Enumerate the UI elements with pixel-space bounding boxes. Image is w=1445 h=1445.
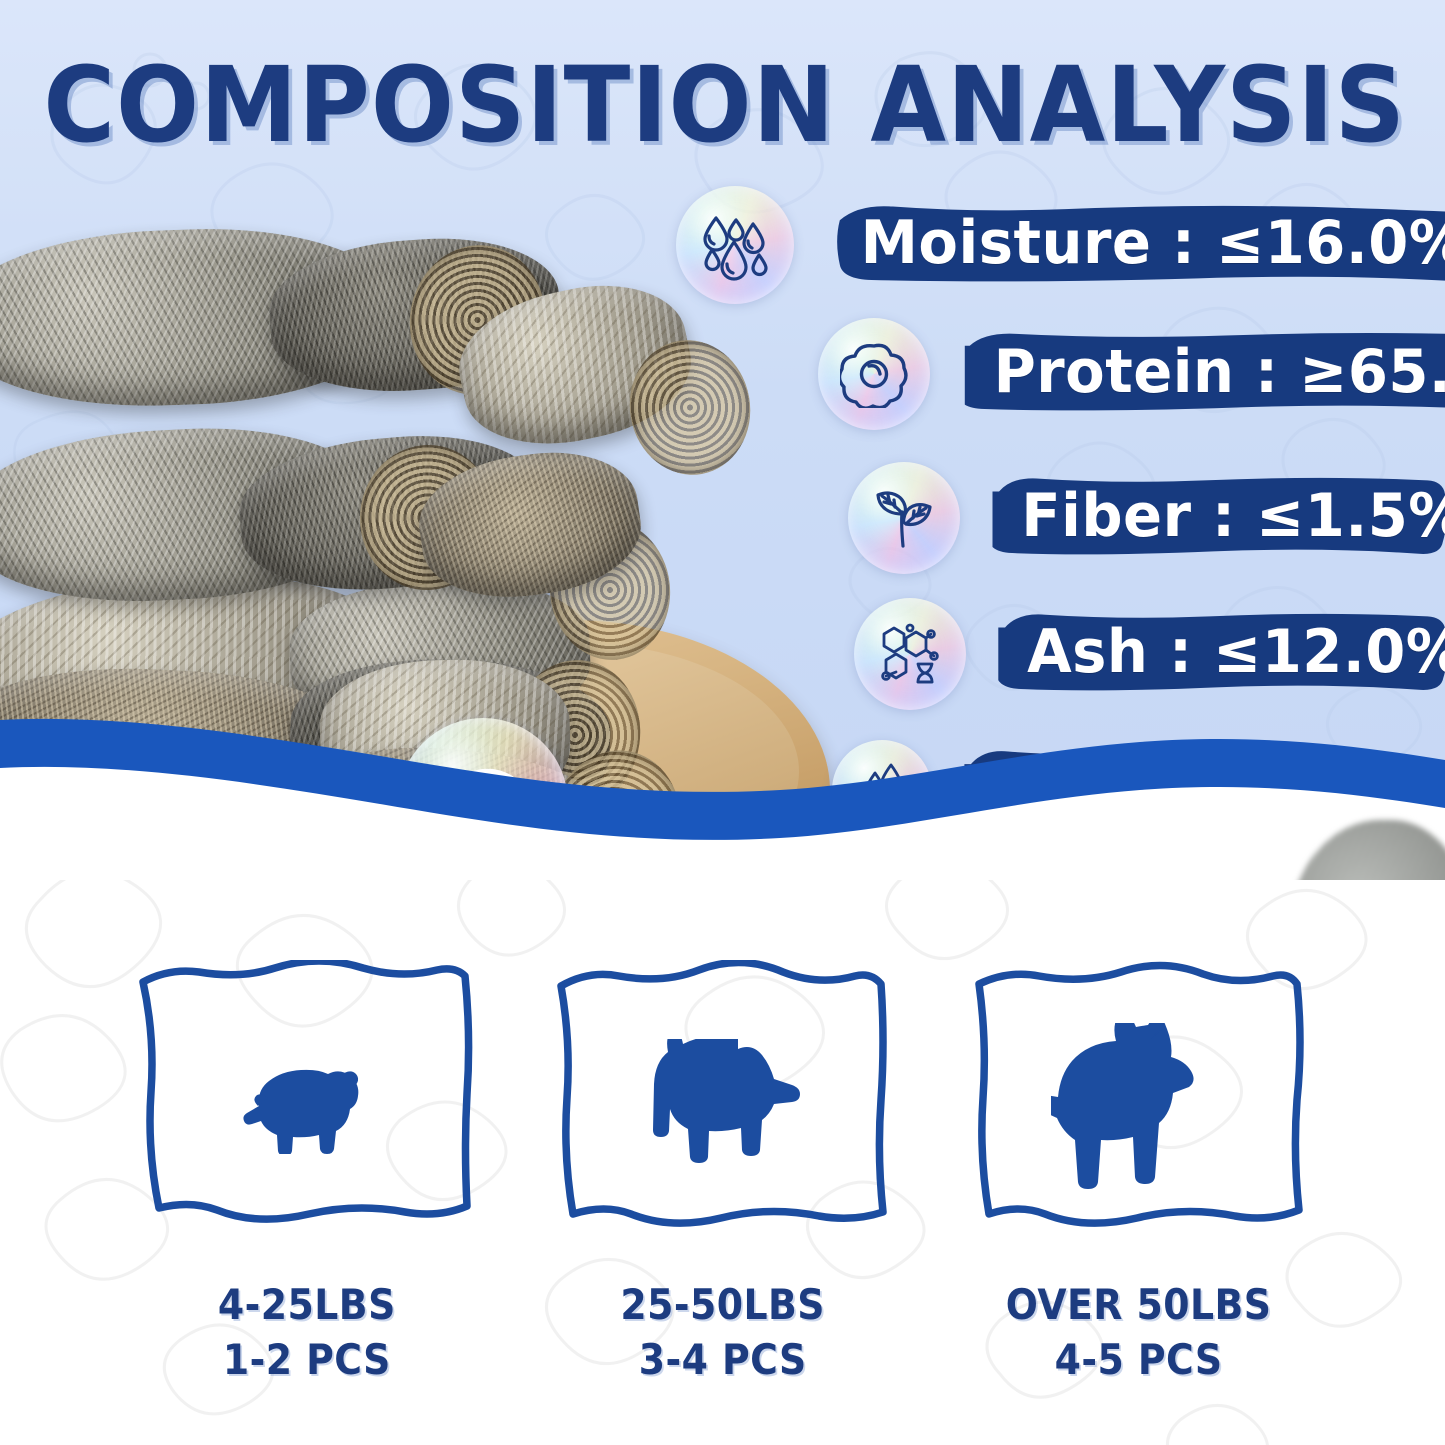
protein-label-bar: Protein : ≥65.0% — [965, 327, 1445, 421]
fiber-label-bar: Fiber : ≤1.5% — [992, 471, 1445, 565]
size-pieces-large: 4-5 PCS — [1006, 1333, 1272, 1388]
fiber-value-text: Fiber : ≤1.5% — [1021, 481, 1445, 551]
size-text-large: OVER 50LBS 4-5 PCS — [1006, 1278, 1272, 1387]
nutrition-row-moisture: Moisture : ≤16.0% — [676, 186, 1445, 304]
top-panel: COMPOSITION ANALYSIS — [0, 0, 1445, 880]
size-box-small — [133, 960, 481, 1252]
protein-bubble — [818, 318, 930, 430]
ash-value-text: Ash : ≤12.0% — [1027, 617, 1445, 687]
ash-label-bar: Ash : ≤12.0% — [998, 607, 1445, 701]
composition-analysis-poster: COMPOSITION ANALYSIS — [0, 0, 1445, 1445]
nutrition-row-fiber: Fiber : ≤1.5% — [848, 462, 1445, 574]
size-box-large — [965, 960, 1313, 1252]
moisture-value-text: Moisture : ≤16.0% — [861, 208, 1445, 278]
size-weight-small: 4-25LBS — [218, 1278, 396, 1333]
wave-divider — [0, 694, 1445, 880]
molecule-icon — [876, 620, 944, 688]
medium-dog-icon — [642, 1039, 804, 1173]
size-pieces-medium: 3-4 PCS — [620, 1333, 825, 1388]
nutrition-row-protein: Protein : ≥65.0% — [818, 318, 1445, 430]
fried-egg-icon — [840, 340, 908, 408]
fiber-bubble — [848, 462, 960, 574]
size-card-medium[interactable]: 25-50LBS 3-4 PCS — [548, 960, 898, 1430]
size-box-medium — [549, 960, 897, 1252]
large-dog-icon — [1051, 1023, 1227, 1189]
grey-cat-photo — [1281, 800, 1445, 880]
size-weight-large: OVER 50LBS — [1006, 1278, 1272, 1333]
moisture-label-bar: Moisture : ≤16.0% — [832, 198, 1445, 292]
feeding-size-cards: 4-25LBS 1-2 PCS 25-50LBS 3-4 PCS — [0, 960, 1445, 1430]
leaf-plant-icon — [870, 484, 938, 552]
small-dog-icon — [242, 1058, 372, 1154]
protein-value-text: Protein : ≥65.0% — [994, 337, 1445, 407]
size-pieces-small: 1-2 PCS — [218, 1333, 396, 1388]
moisture-bubble — [676, 186, 794, 304]
water-drops-icon — [698, 208, 772, 282]
size-text-medium: 25-50LBS 3-4 PCS — [620, 1278, 825, 1387]
size-card-small[interactable]: 4-25LBS 1-2 PCS — [132, 960, 482, 1430]
feeding-guide-panel: 4-25LBS 1-2 PCS 25-50LBS 3-4 PCS — [0, 880, 1445, 1445]
size-text-small: 4-25LBS 1-2 PCS — [218, 1278, 396, 1387]
size-weight-medium: 25-50LBS — [620, 1278, 825, 1333]
page-title: COMPOSITION ANALYSIS — [43, 44, 1401, 166]
size-card-large[interactable]: OVER 50LBS 4-5 PCS — [964, 960, 1314, 1430]
